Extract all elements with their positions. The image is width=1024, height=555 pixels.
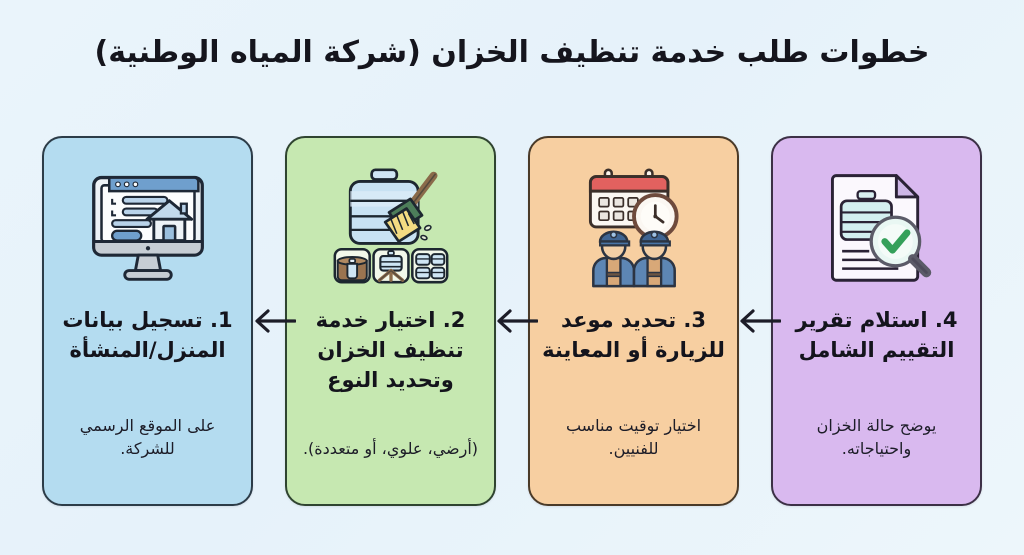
arrow-step2-to-step3	[494, 306, 538, 336]
infographic-root: خطوات طلب خدمة تنظيف الخزان (شركة المياه…	[0, 0, 1024, 555]
page-title: خطوات طلب خدمة تنظيف الخزان (شركة المياه…	[0, 33, 1024, 73]
step-card-1[interactable]: 1. تسجيل بيانات المنزل/المنشأة على الموق…	[42, 136, 253, 506]
calendar-clock-technicians-icon	[570, 162, 698, 290]
step-card-2-subtitle: (أرضي، علوي، أو متعددة).	[298, 437, 483, 460]
step-card-4-heading: 4. استلام تقرير التقييم الشامل	[784, 306, 969, 366]
step-card-4-subtitle: يوضح حالة الخزان واحتياجاته.	[784, 414, 969, 460]
monitor-registration-form-house-icon	[84, 162, 212, 290]
step-card-3[interactable]: 3. تحديد موعد للزيارة أو المعاينة اختيار…	[528, 136, 739, 506]
step-card-3-subtitle: اختيار توقيت مناسب للفنيين.	[541, 414, 726, 460]
step-card-3-heading: 3. تحديد موعد للزيارة أو المعاينة	[541, 306, 726, 366]
arrow-step3-to-step4	[252, 306, 296, 336]
arrow-step1-to-step2	[737, 306, 781, 336]
step-card-2-heading: 2. اختيار خدمة تنظيف الخزان وتحديد النوع	[298, 306, 483, 395]
step-card-2[interactable]: 2. اختيار خدمة تنظيف الخزان وتحديد النوع…	[285, 136, 496, 506]
step-card-4[interactable]: 4. استلام تقرير التقييم الشامل يوضح حالة…	[771, 136, 982, 506]
step-card-1-subtitle: على الموقع الرسمي للشركة.	[55, 414, 240, 460]
report-document-magnifier-check-icon	[813, 162, 941, 290]
step-card-1-heading: 1. تسجيل بيانات المنزل/المنشأة	[55, 306, 240, 366]
water-tank-broom-types-icon	[327, 162, 455, 290]
